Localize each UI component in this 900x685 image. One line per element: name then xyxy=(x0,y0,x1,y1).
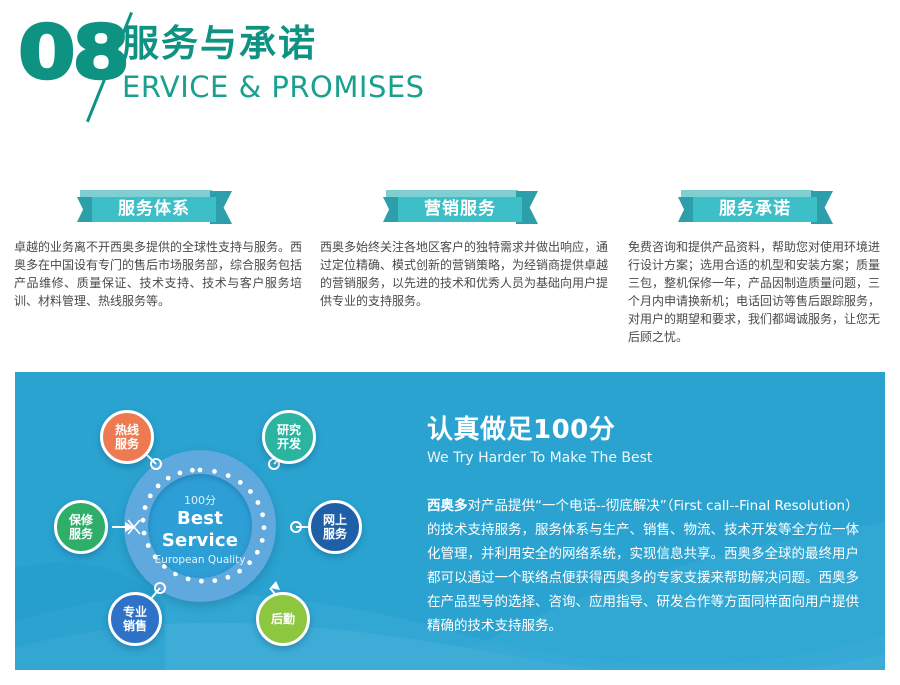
ribbon-label: 营销服务 xyxy=(398,197,522,222)
node-label-line1: 专业 xyxy=(123,605,147,619)
diagram-node-warranty-service[interactable]: 保修 服务 xyxy=(54,500,108,554)
page-title: 服务与承诺 xyxy=(122,22,425,66)
ribbon-label: 服务承诺 xyxy=(693,197,817,222)
panel-subtitle: We Try Harder To Make The Best xyxy=(427,448,865,468)
info-column: 营销服务 西奥多始终关注各地区客户的独特需求并做出响应，通过定位精确、模式创新的… xyxy=(320,190,608,310)
node-label-line1: 后勤 xyxy=(271,612,295,626)
node-label-line2: 销售 xyxy=(123,619,147,633)
page-subtitle-en: ERVICE & PROMISES xyxy=(122,69,425,105)
header-titles: 服务与承诺 ERVICE & PROMISES xyxy=(122,22,425,105)
panel-title: 认真做足100分 xyxy=(427,414,865,446)
page-header: 08 服务与承诺 ERVICE & PROMISES xyxy=(0,0,900,130)
diagram-node-logistics[interactable]: 后勤 xyxy=(256,592,310,646)
node-label-line1: 研究 xyxy=(277,423,301,437)
node-label-line1: 网上 xyxy=(323,513,347,527)
node-label-line2: 开发 xyxy=(277,437,301,451)
ribbon-banner: 服务承诺 xyxy=(693,190,825,224)
column-body-text: 卓越的业务离不开西奥多提供的全球性支持与服务。西奥多在中国设有专门的售后市场服务… xyxy=(14,238,302,310)
column-body-text: 免费咨询和提供产品资料，帮助您对使用环境进行设计方案；选用合适的机型和安装方案；… xyxy=(628,238,890,346)
ribbon-banner: 服务体系 xyxy=(92,190,224,224)
node-label-line2: 服务 xyxy=(323,527,347,541)
center-subtitle: European Quality xyxy=(136,553,264,567)
ribbon-left-tail xyxy=(678,197,694,222)
center-title: Best Service xyxy=(136,508,264,552)
ribbon-left-tail xyxy=(383,197,399,222)
ribbon-left-tail xyxy=(77,197,93,222)
diagram-node-hotline-service[interactable]: 热线 服务 xyxy=(100,410,154,464)
panel-body-rest: 对产品提供“一个电话--彻底解决”（First call--Final Reso… xyxy=(427,498,859,634)
diagram-node-online-service[interactable]: 网上 服务 xyxy=(308,500,362,554)
node-label-line2: 服务 xyxy=(69,527,93,541)
center-score-label: 100分 xyxy=(136,494,264,507)
node-label-line2: 服务 xyxy=(115,437,139,451)
node-label-line1: 保修 xyxy=(69,513,93,527)
diagram-center-text: 100分 Best Service European Quality xyxy=(136,494,264,567)
panel-body-text: 西奥多对产品提供“一个电话--彻底解决”（First call--Final R… xyxy=(427,494,865,638)
diagram-node-professional-sales[interactable]: 专业 销售 xyxy=(108,592,162,646)
feature-panel: 热线 服务 研究 开发 保修 服务 网上 服务 专业 销售 后勤 100分 Be… xyxy=(15,372,885,670)
column-body-text: 西奥多始终关注各地区客户的独特需求并做出响应，通过定位精确、模式创新的营销策略，… xyxy=(320,238,608,310)
ribbon-label: 服务体系 xyxy=(92,197,216,222)
panel-body-lead: 西奥多 xyxy=(427,498,468,514)
panel-text-block: 认真做足100分 We Try Harder To Make The Best … xyxy=(427,414,865,638)
ribbon-banner: 营销服务 xyxy=(398,190,530,224)
service-circle-diagram: 热线 服务 研究 开发 保修 服务 网上 服务 专业 销售 后勤 100分 Be… xyxy=(50,402,380,652)
info-column: 服务体系 卓越的业务离不开西奥多提供的全球性支持与服务。西奥多在中国设有专门的售… xyxy=(14,190,302,310)
diagram-node-research-development[interactable]: 研究 开发 xyxy=(262,410,316,464)
info-column: 服务承诺 免费咨询和提供产品资料，帮助您对使用环境进行设计方案；选用合适的机型和… xyxy=(628,190,890,346)
node-label-line1: 热线 xyxy=(115,423,139,437)
